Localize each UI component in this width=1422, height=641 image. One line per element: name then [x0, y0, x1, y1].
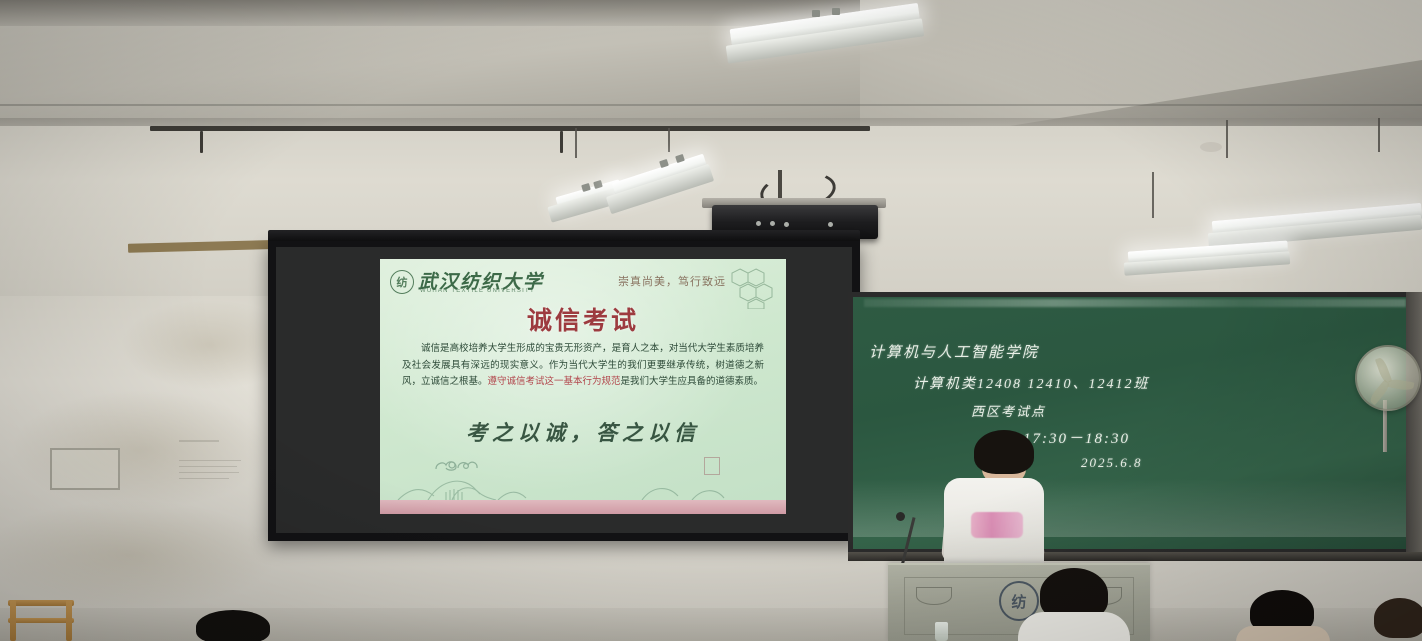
university-name-en: WUHAN TEXTILE UNIVERSITY	[420, 288, 535, 294]
hanger-wire	[200, 131, 203, 153]
university-seal-icon: 纺	[390, 270, 414, 294]
slide-header: 纺 武汉纺织大学 WUHAN TEXTILE UNIVERSITY 崇真尚美，笃…	[390, 267, 778, 299]
slide-body-highlight: 遵守诚信考试这一基本行为规范	[488, 377, 621, 387]
classroom-scene: 纺 武汉纺织大学 WUHAN TEXTILE UNIVERSITY 崇真尚美，笃…	[0, 0, 1422, 641]
water-bottle	[935, 622, 948, 641]
light-hanger	[668, 128, 670, 152]
wall-plaque	[50, 448, 120, 490]
fan-cage-icon	[1355, 345, 1421, 411]
hanger-wire	[560, 131, 563, 153]
chalk-tray	[848, 552, 1422, 561]
blackboard-line-2: 计算机类12408 12410、12412班	[913, 373, 1150, 393]
speaker-shirt-graphic	[971, 512, 1023, 538]
blackboard: 计算机与人工智能学院 计算机类12408 12410、12412班 西区考试点 …	[853, 297, 1417, 549]
smoke-detector-icon	[1200, 142, 1222, 152]
ceiling-seam	[0, 104, 1422, 106]
chalk-dust	[853, 479, 1417, 537]
chalk-smear	[864, 299, 1405, 307]
classroom-chair	[8, 592, 80, 641]
projection-screen-surface: 纺 武汉纺织大学 WUHAN TEXTILE UNIVERSITY 崇真尚美，笃…	[276, 247, 852, 533]
blackboard-line-3: 西区考试点	[971, 401, 1046, 420]
presentation-slide: 纺 武汉纺织大学 WUHAN TEXTILE UNIVERSITY 崇真尚美，笃…	[380, 259, 786, 514]
speaker-hair	[974, 430, 1034, 474]
blackboard-line-5: 2025.6.8	[1081, 455, 1143, 471]
wall-conduit	[150, 126, 870, 131]
blackboard-right-frame	[1406, 292, 1422, 554]
wall-poster	[175, 430, 247, 488]
lectern-motif-left-icon	[916, 587, 952, 605]
slide-footer-band	[380, 500, 786, 514]
slide-body-part2: 是我们大学生应具备的道德素质。	[621, 377, 764, 387]
mountain-motif-icon	[380, 466, 786, 500]
light-hanger	[575, 128, 577, 158]
microphone-head-icon	[896, 512, 905, 521]
blackboard-line-4: 17:30－18:30	[1023, 427, 1130, 448]
university-motto: 崇真尚美，笃行致远	[618, 273, 726, 289]
slide-body-text: 诚信是高校培养大学生形成的宝贵无形资产，是育人之本，对当代大学生素质培养及社会发…	[402, 341, 764, 391]
slide-calligraphy-line: 考之以诚，答之以信	[380, 417, 786, 447]
slide-title: 诚信考试	[380, 301, 786, 337]
blackboard-line-1: 计算机与人工智能学院	[869, 341, 1039, 362]
